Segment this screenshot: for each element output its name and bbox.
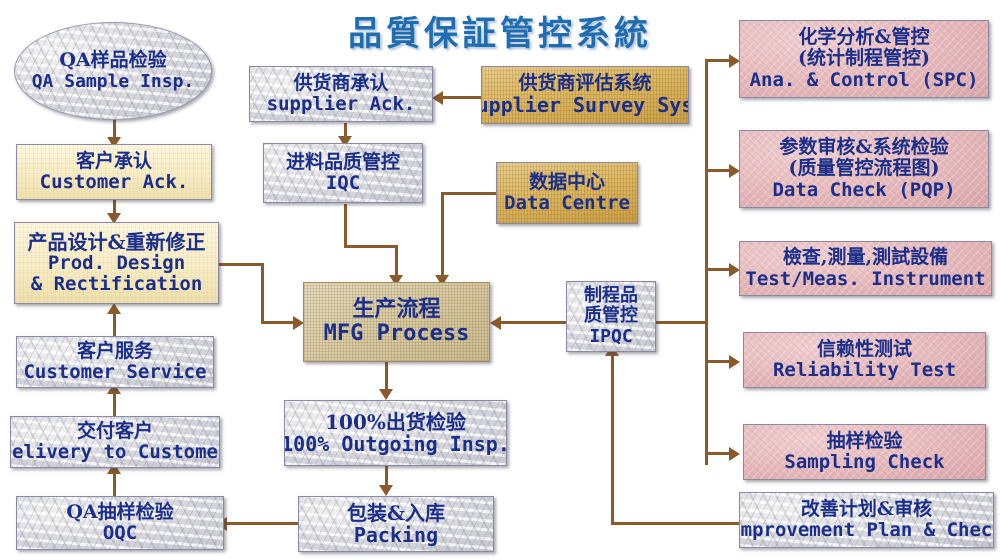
connector-improvement-up xyxy=(611,352,614,525)
arrowhead-trunk-to-sampling xyxy=(729,447,740,461)
node-customer-service-en: Customer Service xyxy=(23,362,206,383)
node-qa-sample-insp-en: QA Sample Insp. xyxy=(32,72,195,92)
node-iqc-cn: 进料品质管控 xyxy=(286,152,400,173)
node-packing-cn: 包装&入库 xyxy=(347,502,445,524)
node-supplier-ack-cn: 供货商承认 xyxy=(293,73,388,94)
node-data-check-pqp[interactable]: 参数审核&系统检验 (质量管控流程图) Data Check (PQP) xyxy=(739,130,989,208)
node-ipqc-cn: 制程品 xyxy=(584,286,638,306)
node-outgoing-insp-en: 100% Outgoing Insp. xyxy=(284,433,507,455)
arrowhead-trunk-to-reliability xyxy=(729,355,740,369)
node-improvement-plan-cn: 改善计划&审核 xyxy=(801,499,932,520)
connector-ipqc-to-mfg xyxy=(499,321,567,324)
node-delivery-to-customer-cn: 交付客户 xyxy=(77,421,153,442)
connector-prod-design-out xyxy=(218,263,264,266)
node-mfg-process[interactable]: 生产流程 MFG Process xyxy=(303,282,490,362)
node-reliability-test-en: Reliability Test xyxy=(773,360,956,381)
node-delivery-to-customer[interactable]: 交付客户 Delivery to Customer xyxy=(10,416,220,468)
node-oqc-cn: QA抽样检验 xyxy=(66,502,173,523)
node-sampling-check[interactable]: 抽样检验 Sampling Check xyxy=(743,424,986,480)
node-data-centre-cn: 数据中心 xyxy=(529,172,605,193)
node-qa-sample-insp-cn: QA样品检验 xyxy=(59,50,166,71)
node-prod-design[interactable]: 产品设计&重新修正 Prod. Design & Rectification xyxy=(14,222,219,304)
node-reliability-test[interactable]: 信赖性测试 Reliability Test xyxy=(743,332,986,388)
node-oqc-en: OQC xyxy=(103,523,137,544)
connector-prod-design-down xyxy=(261,263,264,323)
connector-data-centre-to-mfg xyxy=(441,192,444,281)
connector-improvement-left xyxy=(611,522,739,525)
node-supplier-ack[interactable]: 供货商承认 supplier Ack. xyxy=(249,66,433,122)
node-improvement-plan-en: Improvement Plan & Check xyxy=(739,520,994,541)
node-packing[interactable]: 包装&入库 Packing xyxy=(298,496,494,552)
node-test-meas-instrument-cn: 檢查,測量,測試設備 xyxy=(783,247,948,268)
node-customer-ack[interactable]: 客户承认 Customer Ack. xyxy=(16,144,212,200)
node-data-check-pqp-cn: 参数审核&系统检验 xyxy=(779,137,948,158)
node-outgoing-insp-cn: 100%出货检验 xyxy=(325,411,466,433)
node-delivery-to-customer-en: Delivery to Customer xyxy=(10,442,220,463)
node-customer-ack-cn: 客户承认 xyxy=(76,151,152,172)
node-supplier-ack-en: supplier Ack. xyxy=(267,94,416,115)
node-customer-ack-en: Customer Ack. xyxy=(40,172,189,193)
node-data-check-pqp-cn2: (质量管控流程图) xyxy=(789,158,940,179)
node-prod-design-cn: 产品设计&重新修正 xyxy=(27,231,205,253)
arrowhead-ipqc-to-mfg xyxy=(490,316,501,330)
node-customer-service[interactable]: 客户服务 Customer Service xyxy=(16,336,214,388)
node-outgoing-insp[interactable]: 100%出货检验 100% Outgoing Insp. xyxy=(284,400,507,466)
node-iqc[interactable]: 进料品质管控 IQC xyxy=(263,143,423,203)
connector-ipqc-to-trunk xyxy=(656,321,708,324)
node-qa-sample-insp[interactable]: QA样品检验 QA Sample Insp. xyxy=(14,22,212,120)
connector-right-trunk xyxy=(705,59,708,465)
node-iqc-en: IQC xyxy=(326,173,360,194)
node-test-meas-instrument-en: Test/Meas. Instrument xyxy=(745,269,985,290)
node-test-meas-instrument[interactable]: 檢查,測量,測試設備 Test/Meas. Instrument xyxy=(739,241,992,296)
node-ana-control-spc-cn2: (统计制程管控) xyxy=(798,48,930,69)
node-ipqc[interactable]: 制程品 质管控 IPQC xyxy=(566,281,656,352)
node-customer-service-cn: 客户服务 xyxy=(77,341,153,362)
node-mfg-process-en: MFG Process xyxy=(324,322,470,347)
flowchart-canvas: 品質保証管控系統 xyxy=(0,0,1000,560)
node-ana-control-spc-en: Ana. & Control (SPC) xyxy=(750,70,979,91)
node-ana-control-spc[interactable]: 化学分析&管控 (统计制程管控) Ana. & Control (SPC) xyxy=(739,20,989,98)
node-packing-en: Packing xyxy=(354,524,438,546)
node-reliability-test-cn: 信赖性测试 xyxy=(817,339,912,360)
node-data-check-pqp-en: Data Check (PQP) xyxy=(772,180,955,201)
node-ipqc-en: IPQC xyxy=(589,327,632,347)
arrowhead-customer-service-to-prod-design xyxy=(107,303,121,314)
node-supplier-survey[interactable]: 供货商评估系统 Supplier Survey Sys. xyxy=(481,66,689,124)
node-data-centre[interactable]: 数据中心 Data Centre xyxy=(496,162,638,224)
node-data-centre-en: Data Centre xyxy=(504,193,630,214)
connector-packing-to-oqc xyxy=(225,522,298,525)
node-ana-control-spc-cn: 化学分析&管控 xyxy=(798,27,929,48)
node-improvement-plan[interactable]: 改善计划&审核 Improvement Plan & Check xyxy=(739,492,994,548)
connector-data-centre-left xyxy=(441,192,496,195)
node-sampling-check-en: Sampling Check xyxy=(784,452,944,473)
connector-supplier-survey-to-ack xyxy=(441,96,481,99)
arrowhead-mfg-to-outgoing xyxy=(379,389,393,400)
arrowhead-supplier-survey-to-ack xyxy=(432,91,443,105)
node-ipqc-cn2: 质管控 xyxy=(584,306,638,326)
node-prod-design-en: Prod. Design xyxy=(48,253,185,274)
arrowhead-outgoing-to-packing xyxy=(379,485,393,496)
connector-iqc-right xyxy=(344,245,398,248)
node-supplier-survey-en: Supplier Survey Sys. xyxy=(481,94,689,116)
node-mfg-process-cn: 生产流程 xyxy=(352,297,440,322)
node-sampling-check-cn: 抽样检验 xyxy=(826,431,902,452)
node-prod-design-en2: & Rectification xyxy=(31,274,203,295)
connector-iqc-down xyxy=(344,204,347,248)
node-oqc[interactable]: QA抽样检验 OQC xyxy=(16,496,224,550)
node-supplier-survey-cn: 供货商评估系统 xyxy=(518,73,651,94)
